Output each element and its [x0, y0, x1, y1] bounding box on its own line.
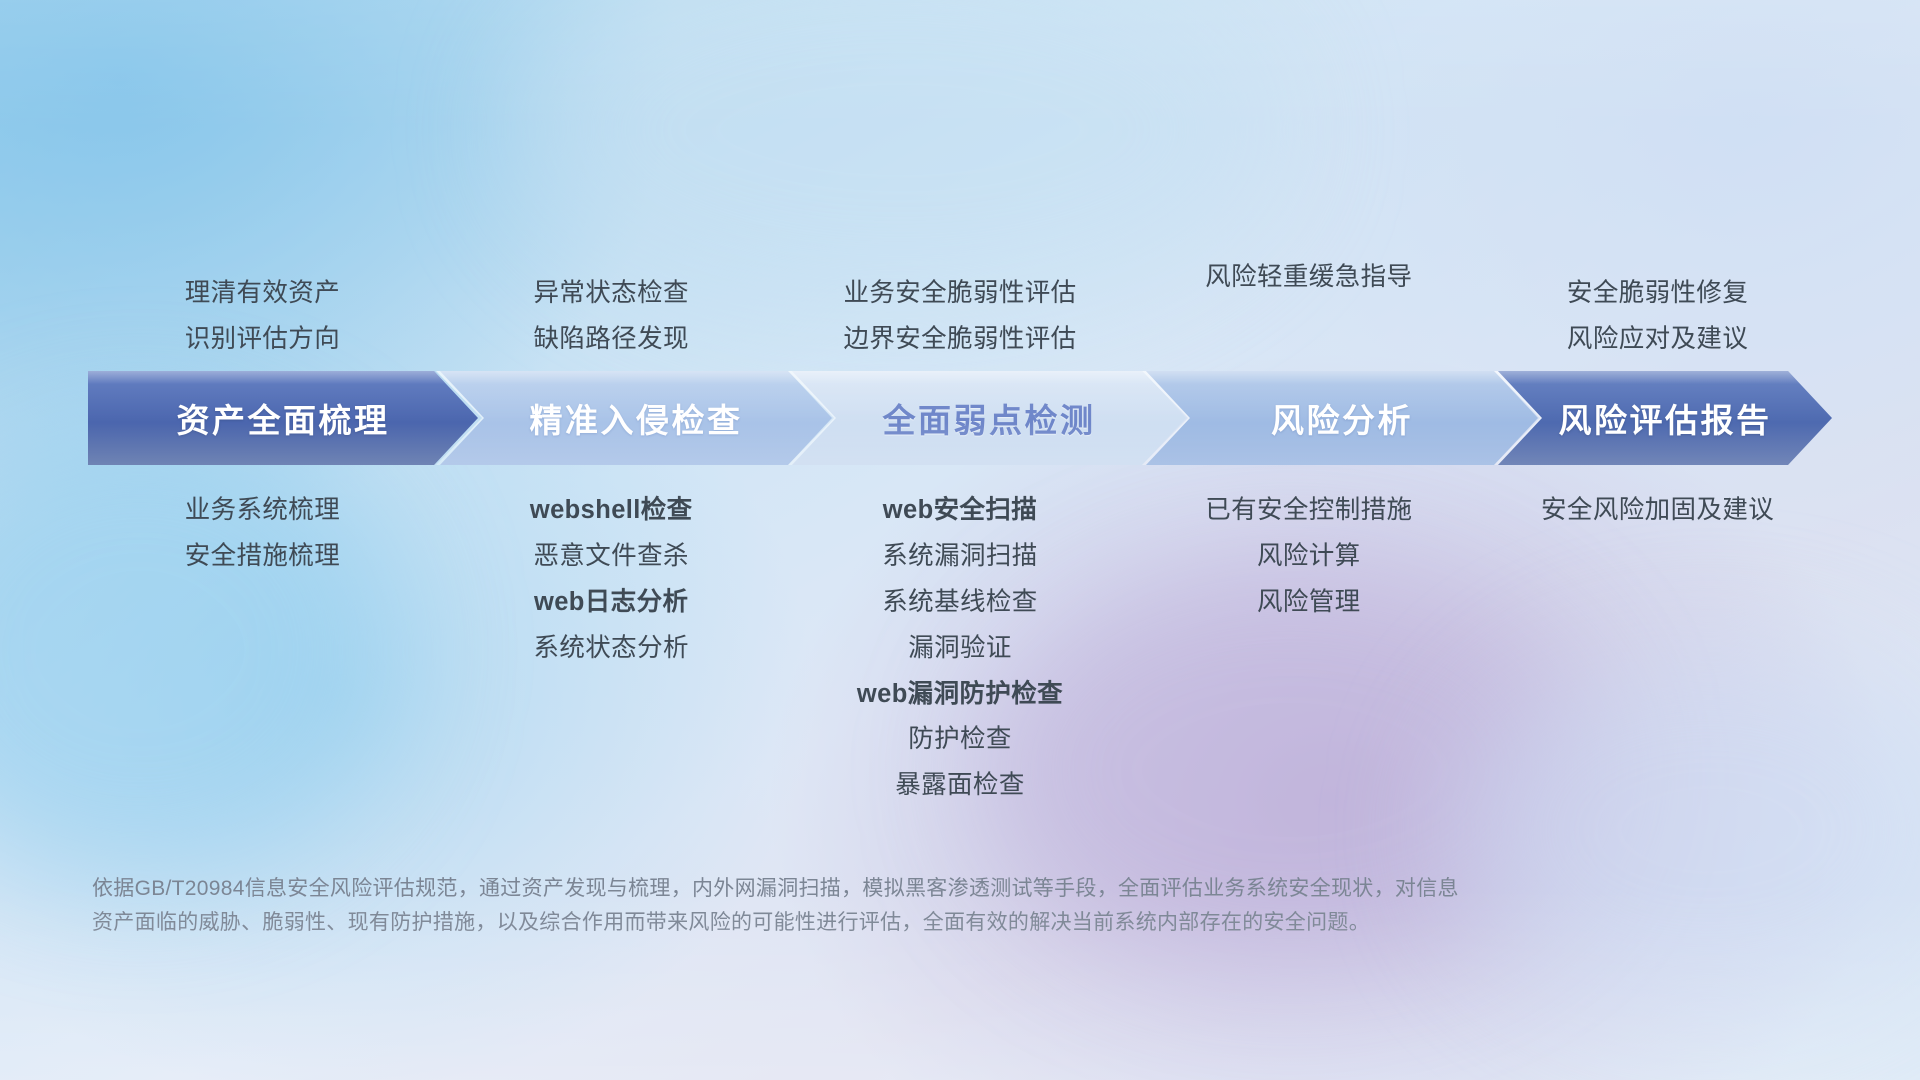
items-column-1: 业务系统梳理 安全措施梳理: [88, 495, 437, 895]
top-note: 理清有效资产: [185, 277, 340, 310]
stage-label: 风险分析: [1271, 394, 1413, 442]
items-column-3: web安全扫描 系统漏洞扫描 系统基线检查 漏洞验证 web漏洞防护检查 防护检…: [786, 495, 1135, 895]
list-item: 系统漏洞扫描: [882, 541, 1037, 573]
list-item: 业务系统梳理: [185, 495, 340, 527]
list-item: 系统状态分析: [533, 633, 688, 665]
top-notes-column-1: 理清有效资产 识别评估方向: [88, 228, 437, 356]
stage-label: 风险评估报告: [1559, 394, 1772, 442]
list-item: web日志分析: [534, 587, 688, 619]
top-note: 风险应对及建议: [1567, 323, 1748, 356]
top-note: 缺陷路径发现: [533, 323, 688, 356]
top-notes-column-5: 安全脆弱性修复 风险应对及建议: [1483, 228, 1832, 356]
stage-item-list: web安全扫描 系统漏洞扫描 系统基线检查 漏洞验证 web漏洞防护检查 防护检…: [786, 495, 1135, 802]
list-item: 已有安全控制措施: [1205, 495, 1412, 527]
top-note: 业务安全脆弱性评估: [843, 277, 1076, 310]
stage-chevron-asset-inventory[interactable]: 资产全面梳理: [88, 371, 478, 465]
top-note: 异常状态检查: [533, 277, 688, 310]
top-note: 边界安全脆弱性评估: [843, 323, 1076, 356]
list-item: 安全措施梳理: [185, 541, 340, 573]
stage-chevron-risk-report[interactable]: 风险评估报告: [1498, 371, 1832, 465]
list-item: 风险计算: [1257, 541, 1361, 573]
stage-chevron-intrusion-check[interactable]: 精准入侵检查: [440, 371, 832, 465]
top-notes-row: 理清有效资产 识别评估方向 异常状态检查 缺陷路径发现 业务安全脆弱性评估 边界…: [88, 228, 1832, 356]
list-item: web安全扫描: [883, 495, 1037, 527]
process-chevron-band: 资产全面梳理 精准入侵检查 全面弱点检测 风险分析 风险评估报告: [88, 371, 1832, 465]
list-item: 防护检查: [908, 724, 1012, 756]
stage-chevron-risk-analysis[interactable]: 风险分析: [1146, 371, 1538, 465]
top-note: 识别评估方向: [185, 323, 340, 356]
stage-item-list: 安全风险加固及建议: [1483, 495, 1832, 527]
stage-item-list: 业务系统梳理 安全措施梳理: [88, 495, 437, 573]
list-item: web漏洞防护检查: [857, 679, 1063, 711]
list-item: 暴露面检查: [895, 770, 1025, 802]
footer-line-2: 资产面临的威胁、脆弱性、现有防护措施，以及综合作用而带来风险的可能性进行评估，全…: [92, 906, 1632, 940]
list-item: 安全风险加固及建议: [1541, 495, 1774, 527]
bottom-items-row: 业务系统梳理 安全措施梳理 webshell检查 恶意文件查杀 web日志分析 …: [88, 495, 1832, 895]
diagram-canvas: 理清有效资产 识别评估方向 异常状态检查 缺陷路径发现 业务安全脆弱性评估 边界…: [0, 0, 1920, 1080]
items-column-2: webshell检查 恶意文件查杀 web日志分析 系统状态分析: [437, 495, 786, 895]
stage-label: 全面弱点检测: [883, 394, 1096, 442]
items-column-5: 安全风险加固及建议: [1483, 495, 1832, 895]
top-notes-column-2: 异常状态检查 缺陷路径发现: [437, 228, 786, 356]
top-note: 风险轻重缓急指导: [1205, 261, 1412, 294]
stage-chevron-weakness-detection[interactable]: 全面弱点检测: [792, 371, 1186, 465]
stage-label: 精准入侵检查: [530, 394, 743, 442]
stage-label: 资产全面梳理: [177, 394, 390, 442]
list-item: 漏洞验证: [908, 633, 1012, 665]
footer-description: 依据GB/T20984信息安全风险评估规范，通过资产发现与梳理，内外网漏洞扫描，…: [92, 872, 1632, 940]
list-item: 系统基线检查: [882, 587, 1037, 619]
stage-item-list: webshell检查 恶意文件查杀 web日志分析 系统状态分析: [437, 495, 786, 665]
list-item: 风险管理: [1257, 587, 1361, 619]
top-notes-column-3: 业务安全脆弱性评估 边界安全脆弱性评估: [786, 228, 1135, 356]
list-item: webshell检查: [530, 495, 693, 527]
top-note: 安全脆弱性修复: [1567, 277, 1748, 310]
stage-item-list: 已有安全控制措施 风险计算 风险管理: [1134, 495, 1483, 619]
list-item: 恶意文件查杀: [533, 541, 688, 573]
items-column-4: 已有安全控制措施 风险计算 风险管理: [1134, 495, 1483, 895]
top-notes-column-4: 风险轻重缓急指导: [1134, 228, 1483, 356]
footer-line-1: 依据GB/T20984信息安全风险评估规范，通过资产发现与梳理，内外网漏洞扫描，…: [92, 872, 1632, 906]
